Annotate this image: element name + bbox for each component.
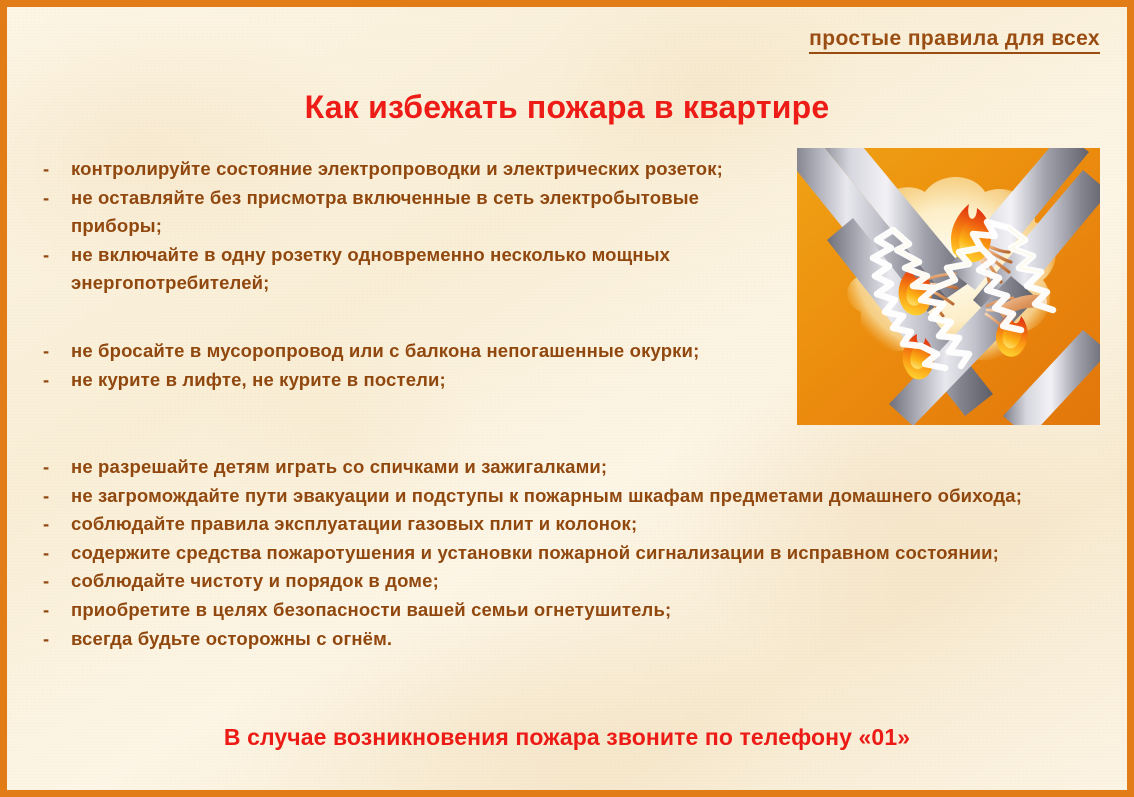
- rule-text: содержите средства пожаротушения и устан…: [71, 539, 1093, 568]
- rule-item: - не оставляйте без присмотра включенные…: [43, 184, 773, 241]
- rule-item: - не разрешайте детям играть со спичками…: [43, 453, 1093, 482]
- rule-item: - всегда будьте осторожны с огнём.: [43, 625, 1093, 654]
- bullet-dash: -: [43, 184, 71, 213]
- rule-item: - не загромождайте пути эвакуации и подс…: [43, 482, 1093, 511]
- rule-text: соблюдайте правила эксплуатации газовых …: [71, 510, 1093, 539]
- rule-text: приобретите в целях безопасности вашей с…: [71, 596, 1093, 625]
- rule-text: не бросайте в мусоропровод или с балкона…: [71, 337, 773, 366]
- bullet-dash: -: [43, 567, 71, 596]
- emergency-call-notice: В случае возникновения пожара звоните по…: [7, 724, 1127, 751]
- bullet-dash: -: [43, 510, 71, 539]
- bullet-dash: -: [43, 337, 71, 366]
- rule-item: - содержите средства пожаротушения и уст…: [43, 539, 1093, 568]
- rule-item: - не курите в лифте, не курите в постели…: [43, 366, 773, 395]
- rule-text: соблюдайте чистоту и порядок в доме;: [71, 567, 1093, 596]
- bullet-dash: -: [43, 453, 71, 482]
- rule-group-general: - не разрешайте детям играть со спичками…: [43, 453, 1093, 653]
- rule-item: - приобретите в целях безопасности вашей…: [43, 596, 1093, 625]
- rule-text: не курите в лифте, не курите в постели;: [71, 366, 773, 395]
- rule-text: не загромождайте пути эвакуации и подсту…: [71, 482, 1093, 511]
- rule-text: контролируйте состояние электропроводки …: [71, 155, 773, 184]
- rule-text: не оставляйте без присмотра включенные в…: [71, 184, 773, 241]
- rule-item: - не включайте в одну розетку одновремен…: [43, 241, 773, 298]
- bullet-dash: -: [43, 625, 71, 654]
- rule-group-smoking: - не бросайте в мусоропровод или с балко…: [43, 337, 773, 394]
- rule-item: - соблюдайте правила эксплуатации газовы…: [43, 510, 1093, 539]
- poster-kicker: простые правила для всех: [809, 27, 1100, 54]
- bullet-dash: -: [43, 596, 71, 625]
- rule-group-electrical: - контролируйте состояние электропроводк…: [43, 155, 773, 298]
- bullet-dash: -: [43, 482, 71, 511]
- bullet-dash: -: [43, 366, 71, 395]
- rule-text: не разрешайте детям играть со спичками и…: [71, 453, 1093, 482]
- rule-item: - соблюдайте чистоту и порядок в доме;: [43, 567, 1093, 596]
- bullet-dash: -: [43, 539, 71, 568]
- rule-item: - не бросайте в мусоропровод или с балко…: [43, 337, 773, 366]
- fire-safety-poster: простые правила для всех Как избежать по…: [0, 0, 1134, 797]
- rule-text: всегда будьте осторожны с огнём.: [71, 625, 1093, 654]
- rule-item: - контролируйте состояние электропроводк…: [43, 155, 773, 184]
- illustration-burning-cables: [797, 148, 1100, 425]
- bullet-dash: -: [43, 155, 71, 184]
- rule-text: не включайте в одну розетку одновременно…: [71, 241, 773, 298]
- page-title: Как избежать пожара в квартире: [7, 89, 1127, 126]
- bullet-dash: -: [43, 241, 71, 270]
